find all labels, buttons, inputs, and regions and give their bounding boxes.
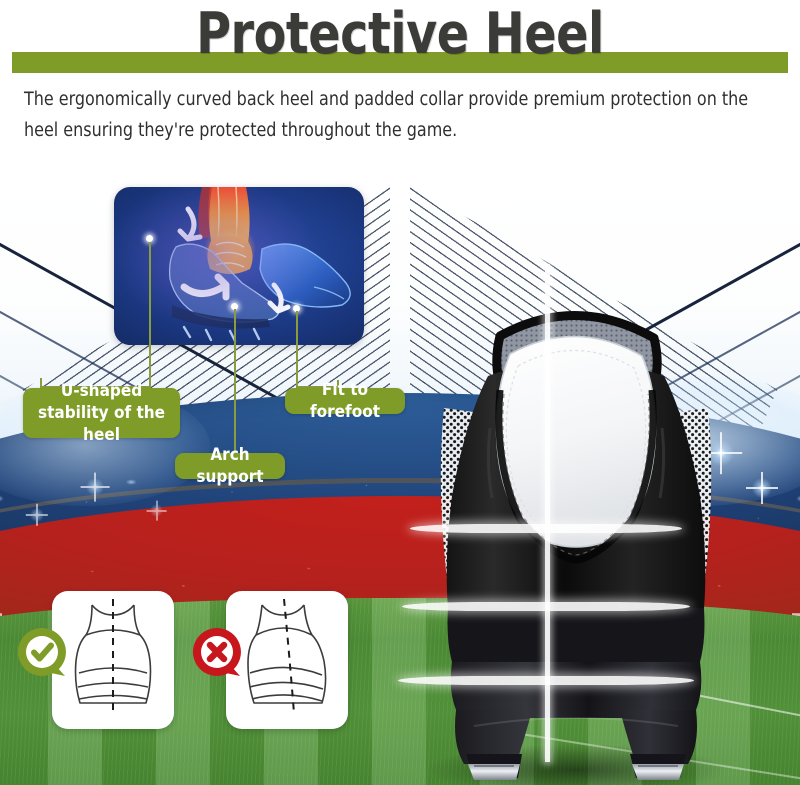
status-badge-incorrect: [191, 626, 243, 678]
heel-tilted-diagram: [226, 591, 348, 729]
cleat-illustration: [404, 258, 748, 785]
comparison-card-incorrect[interactable]: [226, 591, 348, 729]
ankle-anatomy-inset: [114, 187, 364, 345]
guide-arc-lower: [398, 676, 694, 685]
anatomy-glow: [114, 187, 364, 345]
leader-line-arch: [234, 309, 236, 453]
status-badge-correct: [16, 626, 68, 678]
page-title: Protective Heel: [28, 0, 772, 70]
callout-arch-support[interactable]: Arch support: [175, 453, 285, 479]
product-feature-infographic: Protective Heel The ergonomically curved…: [0, 0, 800, 785]
leader-line-u-shaped: [149, 242, 151, 387]
callout-u-shaped[interactable]: U-shaped stability of the heel: [23, 388, 180, 438]
leader-dot-u-shaped: [146, 235, 153, 242]
leader-line-forefoot: [296, 311, 298, 387]
guide-arc-middle: [402, 602, 690, 611]
header-section: Protective Heel The ergonomically curved…: [0, 0, 800, 178]
soccer-cleat-heel-view: [404, 258, 748, 785]
feature-description: The ergonomically curved back heel and p…: [24, 84, 750, 146]
callout-fit-to-forefoot[interactable]: Fit to forefoot: [285, 388, 405, 414]
check-icon: [16, 626, 68, 678]
guide-arc-upper: [410, 524, 682, 533]
comparison-card-correct[interactable]: [52, 591, 174, 729]
stadium-scene: U-shaped stability of the heel Arch supp…: [0, 178, 800, 785]
cross-icon: [191, 626, 243, 678]
center-guide-line: [545, 264, 550, 762]
heel-straight-diagram: [52, 591, 174, 729]
